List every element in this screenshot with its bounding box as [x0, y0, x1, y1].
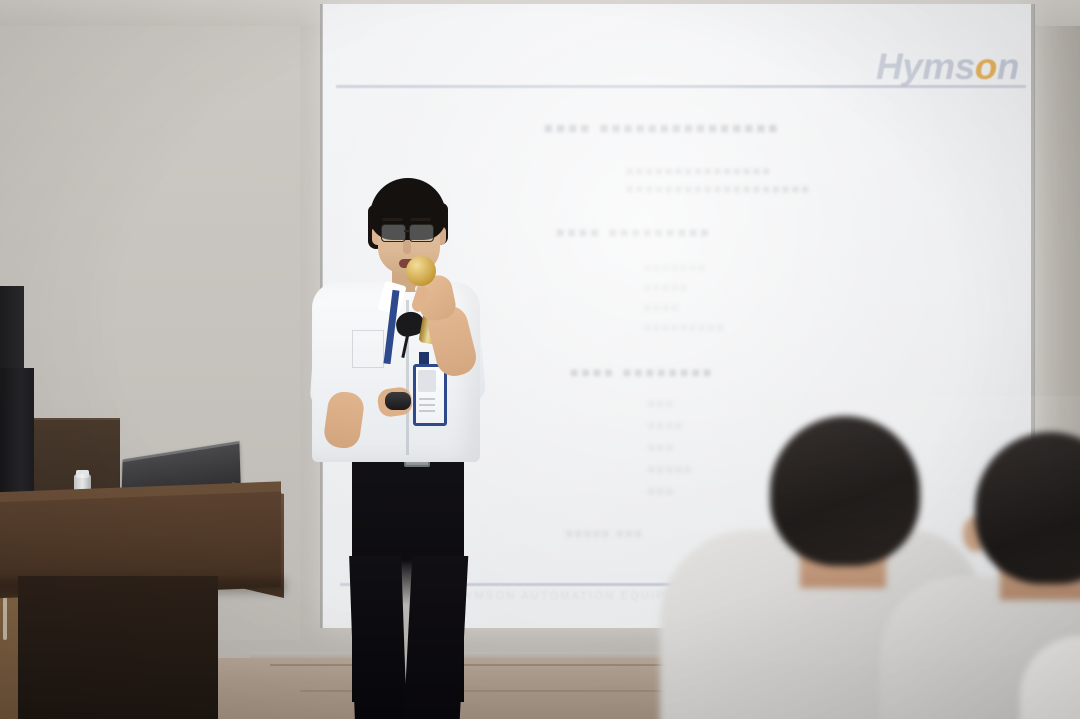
glasses-bridge — [404, 230, 410, 232]
glasses-lens-left — [381, 224, 406, 242]
trouser-leg-right — [404, 556, 469, 719]
nose — [403, 240, 411, 254]
trouser-leg-left — [349, 556, 407, 719]
id-badge-text-line — [419, 404, 435, 406]
id-badge-text-line — [419, 398, 435, 400]
glasses-lens-right — [409, 224, 434, 242]
presentation-clicker — [385, 392, 411, 410]
audience-member-1-head — [770, 416, 920, 566]
eyebrow-right — [410, 218, 431, 221]
id-badge-photo — [418, 370, 436, 392]
microphone-head — [406, 256, 436, 286]
presentation-photo: Hymson ■■■■ ■■■■■■■■■■■■■■■ ■■■■■■■■■■■■… — [0, 0, 1080, 719]
eyebrow-left — [382, 218, 403, 221]
shirt-pocket — [352, 330, 384, 368]
id-badge-text-line — [419, 410, 435, 412]
